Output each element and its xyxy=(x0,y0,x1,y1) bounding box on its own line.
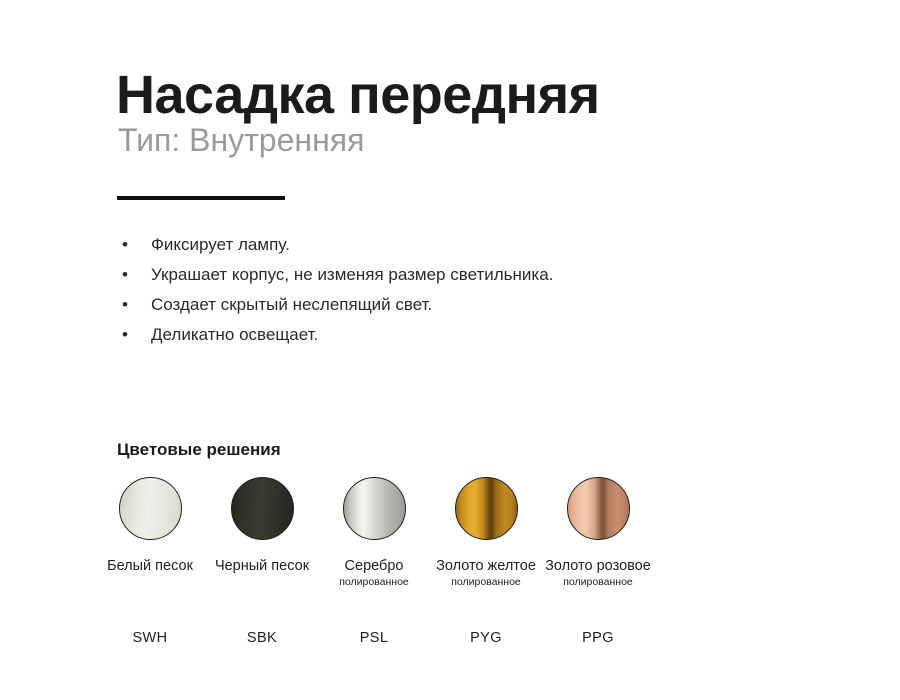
swatch-finish: полированное xyxy=(451,575,521,589)
list-item: • Фиксирует лампу. xyxy=(118,230,818,260)
title-divider xyxy=(117,196,285,200)
swatch-name: Черный песок xyxy=(215,558,309,575)
swatch-finish: полированное xyxy=(339,575,409,589)
swatch-circle-icon[interactable] xyxy=(567,477,630,540)
color-code-row: SWH SBK PSL PYG PPG xyxy=(94,630,714,646)
list-item: • Деликатно освещает. xyxy=(118,320,818,350)
swatch-code: PPG xyxy=(542,630,654,646)
color-swatch-row: Белый песок Черный песок Серебро полиров… xyxy=(94,477,714,589)
list-item-text: Деликатно освещает. xyxy=(151,325,318,344)
color-swatch-pyg[interactable]: Золото желтое полированное xyxy=(430,477,542,589)
color-swatch-swh[interactable]: Белый песок xyxy=(94,477,206,589)
swatch-finish: полированное xyxy=(563,575,633,589)
color-swatch-ppg[interactable]: Золото розовое полированное xyxy=(542,477,654,589)
swatch-circle-icon[interactable] xyxy=(231,477,294,540)
bullet-icon: • xyxy=(120,290,130,320)
bullet-icon: • xyxy=(120,320,130,350)
color-swatch-psl[interactable]: Серебро полированное xyxy=(318,477,430,589)
feature-list: • Фиксирует лампу. • Украшает корпус, не… xyxy=(118,230,818,350)
page-subtitle: Тип: Внутренняя xyxy=(118,120,364,160)
swatch-name: Золото желтое xyxy=(436,558,536,575)
swatch-code: PSL xyxy=(318,630,430,646)
list-item-text: Фиксирует лампу. xyxy=(151,235,290,254)
swatch-code: SWH xyxy=(94,630,206,646)
swatch-circle-icon[interactable] xyxy=(119,477,182,540)
swatch-code: SBK xyxy=(206,630,318,646)
bullet-icon: • xyxy=(120,230,130,260)
swatch-name: Серебро xyxy=(345,558,404,575)
color-options-heading: Цветовые решения xyxy=(117,440,281,460)
swatch-code: PYG xyxy=(430,630,542,646)
bullet-icon: • xyxy=(120,260,130,290)
list-item: • Украшает корпус, не изменяя размер све… xyxy=(118,260,818,290)
list-item-text: Создает скрытый неслепящий свет. xyxy=(151,295,432,314)
page-title: Насадка передняя xyxy=(116,64,600,126)
product-spec-page: Насадка передняя Тип: Внутренняя • Фикси… xyxy=(0,0,900,700)
list-item: • Создает скрытый неслепящий свет. xyxy=(118,290,818,320)
color-swatch-sbk[interactable]: Черный песок xyxy=(206,477,318,589)
swatch-circle-icon[interactable] xyxy=(455,477,518,540)
swatch-circle-icon[interactable] xyxy=(343,477,406,540)
list-item-text: Украшает корпус, не изменяя размер свети… xyxy=(151,265,553,284)
swatch-name: Белый песок xyxy=(107,558,193,575)
swatch-name: Золото розовое xyxy=(545,558,651,575)
